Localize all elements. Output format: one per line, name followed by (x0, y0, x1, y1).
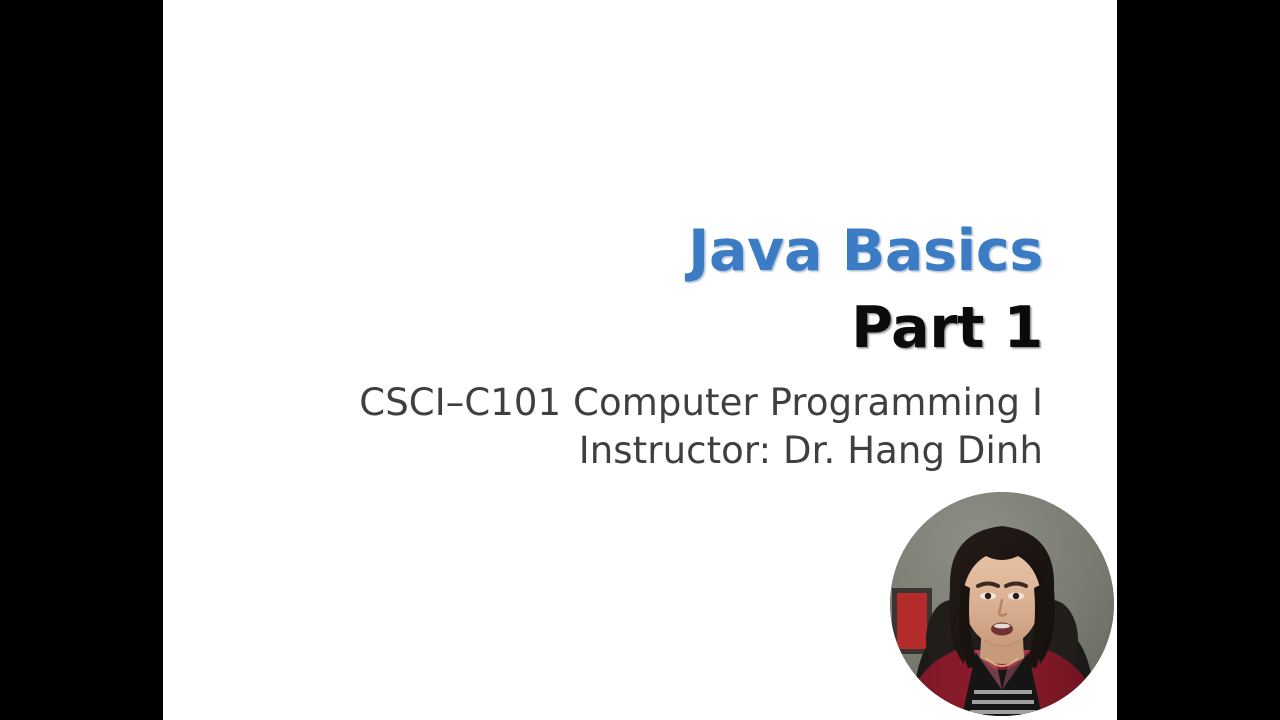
presenter-webcam-image (890, 492, 1114, 716)
presenter-webcam-circle (890, 492, 1114, 716)
letterbox-bar-left (0, 0, 163, 720)
slide-subtitle: CSCI–C101 Computer Programming I Instruc… (163, 379, 1043, 474)
subtitle-line-instructor: Instructor: Dr. Hang Dinh (163, 427, 1043, 474)
presentation-slide: Java Basics Part 1 CSCI–C101 Computer Pr… (163, 0, 1117, 720)
letterbox-bar-right (1117, 0, 1280, 720)
video-frame: Java Basics Part 1 CSCI–C101 Computer Pr… (0, 0, 1280, 720)
slide-title: Java Basics (163, 222, 1043, 280)
slide-part-label: Part 1 (163, 299, 1043, 357)
subtitle-line-course: CSCI–C101 Computer Programming I (163, 379, 1043, 426)
title-block: Java Basics Part 1 CSCI–C101 Computer Pr… (163, 222, 1043, 474)
